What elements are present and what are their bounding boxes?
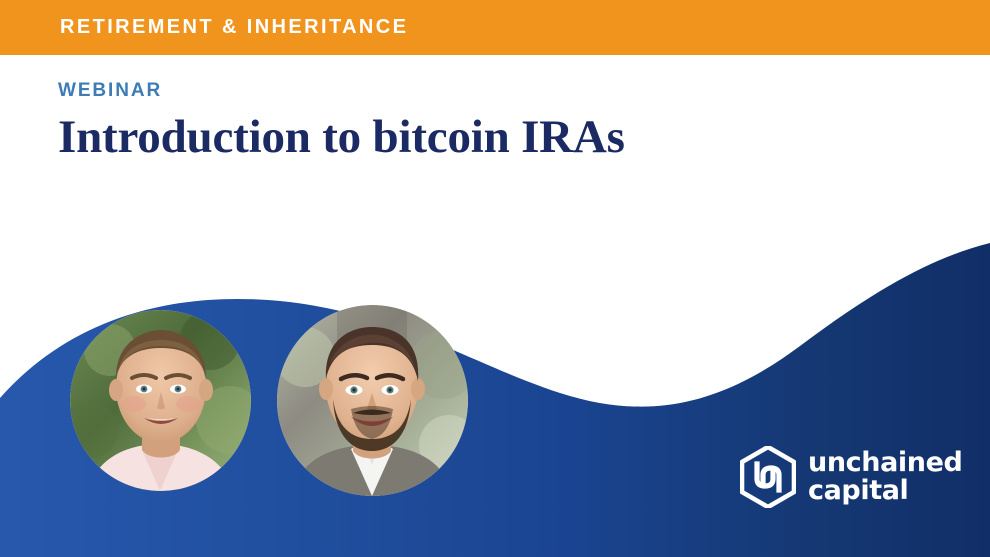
brand-lockup: unchained capital xyxy=(740,444,930,510)
eyebrow-banner-label: RETIREMENT & INHERITANCE xyxy=(60,0,408,55)
kicker-label: WEBINAR xyxy=(58,80,625,102)
headline-block: WEBINAR Introduction to bitcoin IRAs xyxy=(58,80,625,166)
speaker-avatar-1 xyxy=(70,310,251,491)
page-title: Introduction to bitcoin IRAs xyxy=(58,108,625,166)
webinar-promo-card: RETIREMENT & INHERITANCE WEBINAR Introdu… xyxy=(0,0,990,557)
eyebrow-banner: RETIREMENT & INHERITANCE xyxy=(0,0,990,55)
brand-word-line-2: capital xyxy=(808,477,962,505)
speaker-avatar-2 xyxy=(277,305,468,496)
brand-wordmark: unchained capital xyxy=(808,449,962,505)
unchained-hexagon-logo-icon xyxy=(740,446,796,508)
brand-word-line-1: unchained xyxy=(808,449,962,477)
